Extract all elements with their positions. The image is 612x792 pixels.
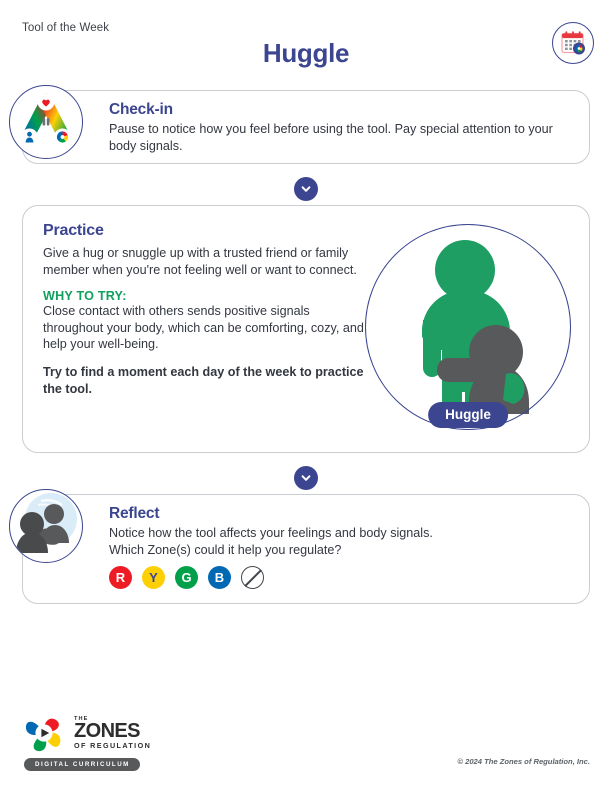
- practice-card: Practice Give a hug or snuggle up with a…: [22, 205, 590, 453]
- practice-text-block: Practice Give a hug or snuggle up with a…: [43, 222, 373, 397]
- page-header: Tool of the Week Huggle: [0, 0, 612, 78]
- zone-badge-no-zone[interactable]: [241, 566, 264, 589]
- illustration-ring: [365, 224, 571, 430]
- logo-zones: ZONES: [74, 722, 151, 741]
- zones-logo: THE ZONES OF REGULATION DIGITAL CURRICUL…: [24, 713, 151, 771]
- why-to-try-body: Close contact with others sends positive…: [43, 303, 373, 353]
- zone-badge-yellow-zone[interactable]: Y: [142, 566, 165, 589]
- calendar-zones-icon: [552, 22, 594, 64]
- zones-logo-text: THE ZONES OF REGULATION: [74, 716, 151, 750]
- zone-badges-row: RYGB: [109, 566, 575, 589]
- reflect-text-line-1: Notice how the tool affects your feeling…: [109, 525, 575, 542]
- logo-of-regulation: OF REGULATION: [74, 741, 151, 750]
- zone-badge-blue-zone[interactable]: B: [208, 566, 231, 589]
- page-title: Huggle: [0, 38, 612, 69]
- zone-badge-green-zone[interactable]: G: [175, 566, 198, 589]
- practice-call-to-action: Try to find a moment each day of the wee…: [43, 364, 373, 397]
- digital-curriculum-badge: DIGITAL CURRICULUM: [24, 758, 140, 771]
- chevron-down-icon-1: [294, 177, 318, 201]
- reflect-glyph: [11, 491, 81, 561]
- calendar-icon: [558, 28, 588, 58]
- chevron-glyph-2: [300, 472, 312, 484]
- checkin-text: Pause to notice how you feel before usin…: [109, 121, 575, 154]
- people-silhouettes-icon: [9, 489, 83, 563]
- reflect-heading: Reflect: [109, 505, 575, 523]
- reflect-body: Reflect Notice how the tool affects your…: [109, 505, 575, 589]
- practice-body: Give a hug or snuggle up with a trusted …: [43, 245, 373, 278]
- illustration-label-badge: Huggle: [428, 402, 508, 428]
- checkin-body: Check-in Pause to notice how you feel be…: [109, 101, 575, 154]
- copyright-notice: © 2024 The Zones of Regulation, Inc.: [457, 757, 590, 766]
- chevron-down-icon-2: [294, 466, 318, 490]
- reflect-card: Reflect Notice how the tool affects your…: [22, 494, 590, 604]
- reflect-text-line-2: Which Zone(s) could it help you regulate…: [109, 542, 575, 559]
- zone-badge-red-zone[interactable]: R: [109, 566, 132, 589]
- chevron-glyph: [300, 183, 312, 195]
- checkin-heading: Check-in: [109, 101, 575, 119]
- eyebrow-label: Tool of the Week: [22, 22, 109, 34]
- practice-heading: Practice: [43, 222, 373, 240]
- zones-triangle-glyph: [15, 91, 77, 153]
- checkin-card: Check-in Pause to notice how you feel be…: [22, 90, 590, 164]
- practice-illustration: Huggle: [365, 224, 571, 430]
- zones-pinwheel-icon: [24, 713, 68, 753]
- why-to-try-label: WHY TO TRY:: [43, 289, 373, 303]
- zones-triangle-icon: [9, 85, 83, 159]
